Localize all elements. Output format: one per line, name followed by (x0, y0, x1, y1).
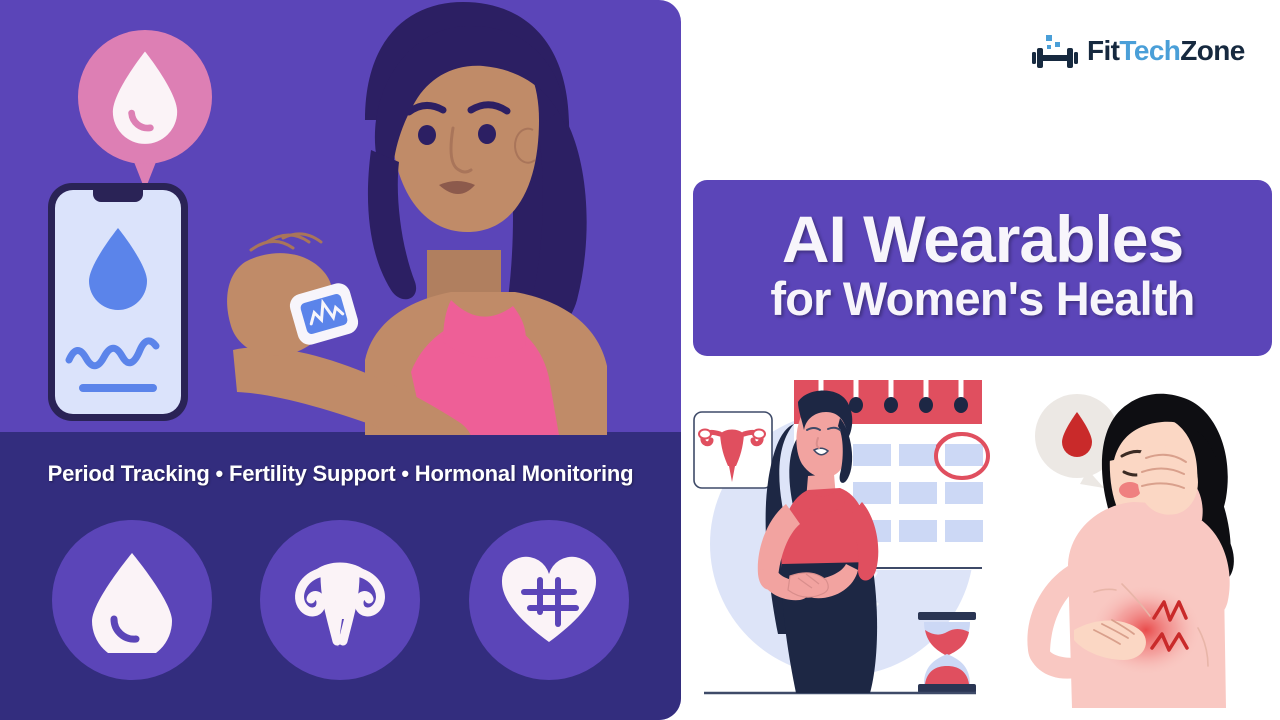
phone-wave-chart (55, 330, 181, 380)
brand-logo[interactable]: FitTechZone (1032, 34, 1245, 68)
blush (1119, 482, 1141, 498)
page-title-line1: AI Wearables (782, 206, 1183, 273)
poster-canvas: Period Tracking • Fertility Support • Ho… (0, 0, 1280, 720)
feature-caption-text: Period Tracking • Fertility Support • Ho… (0, 455, 681, 493)
phone-notch (93, 190, 143, 202)
phone-progress-bar (79, 384, 157, 392)
feature-heart-hormone-circle[interactable] (469, 520, 629, 680)
feature-uterus-circle[interactable] (260, 520, 420, 680)
brand-name: FitTechZone (1087, 37, 1245, 65)
page-title-line2: for Women's Health (770, 273, 1194, 325)
period-tracker-phone (48, 183, 188, 421)
pin-drop-glyph (78, 30, 212, 164)
blood-drop-pin-icon (78, 30, 212, 190)
blood-drop-icon (84, 547, 180, 653)
brand-name-tech: Tech (1119, 35, 1180, 66)
phone-drop-icon (55, 218, 181, 338)
dumbbell-icon (1032, 34, 1078, 68)
hourglass-icon (918, 612, 976, 693)
brand-name-zone: Zone (1180, 35, 1244, 66)
title-banner: AI Wearables for Women's Health (693, 180, 1272, 356)
uterus-icon (285, 545, 395, 655)
left-feature-panel: Period Tracking • Fertility Support • Ho… (0, 0, 681, 720)
woman-with-cramps-calendar-scene (690, 372, 990, 720)
woman-with-smartwatch-illustration (215, 0, 681, 435)
feature-blood-drop-circle[interactable] (52, 520, 212, 680)
feature-icon-row (0, 512, 681, 687)
heart-hormone-icon (496, 550, 602, 650)
uterus-diagram-card (694, 412, 772, 488)
brand-name-fit: Fit (1087, 35, 1119, 66)
woman-with-abdominal-pain-scene (1002, 378, 1274, 720)
phone-screen (55, 190, 181, 414)
